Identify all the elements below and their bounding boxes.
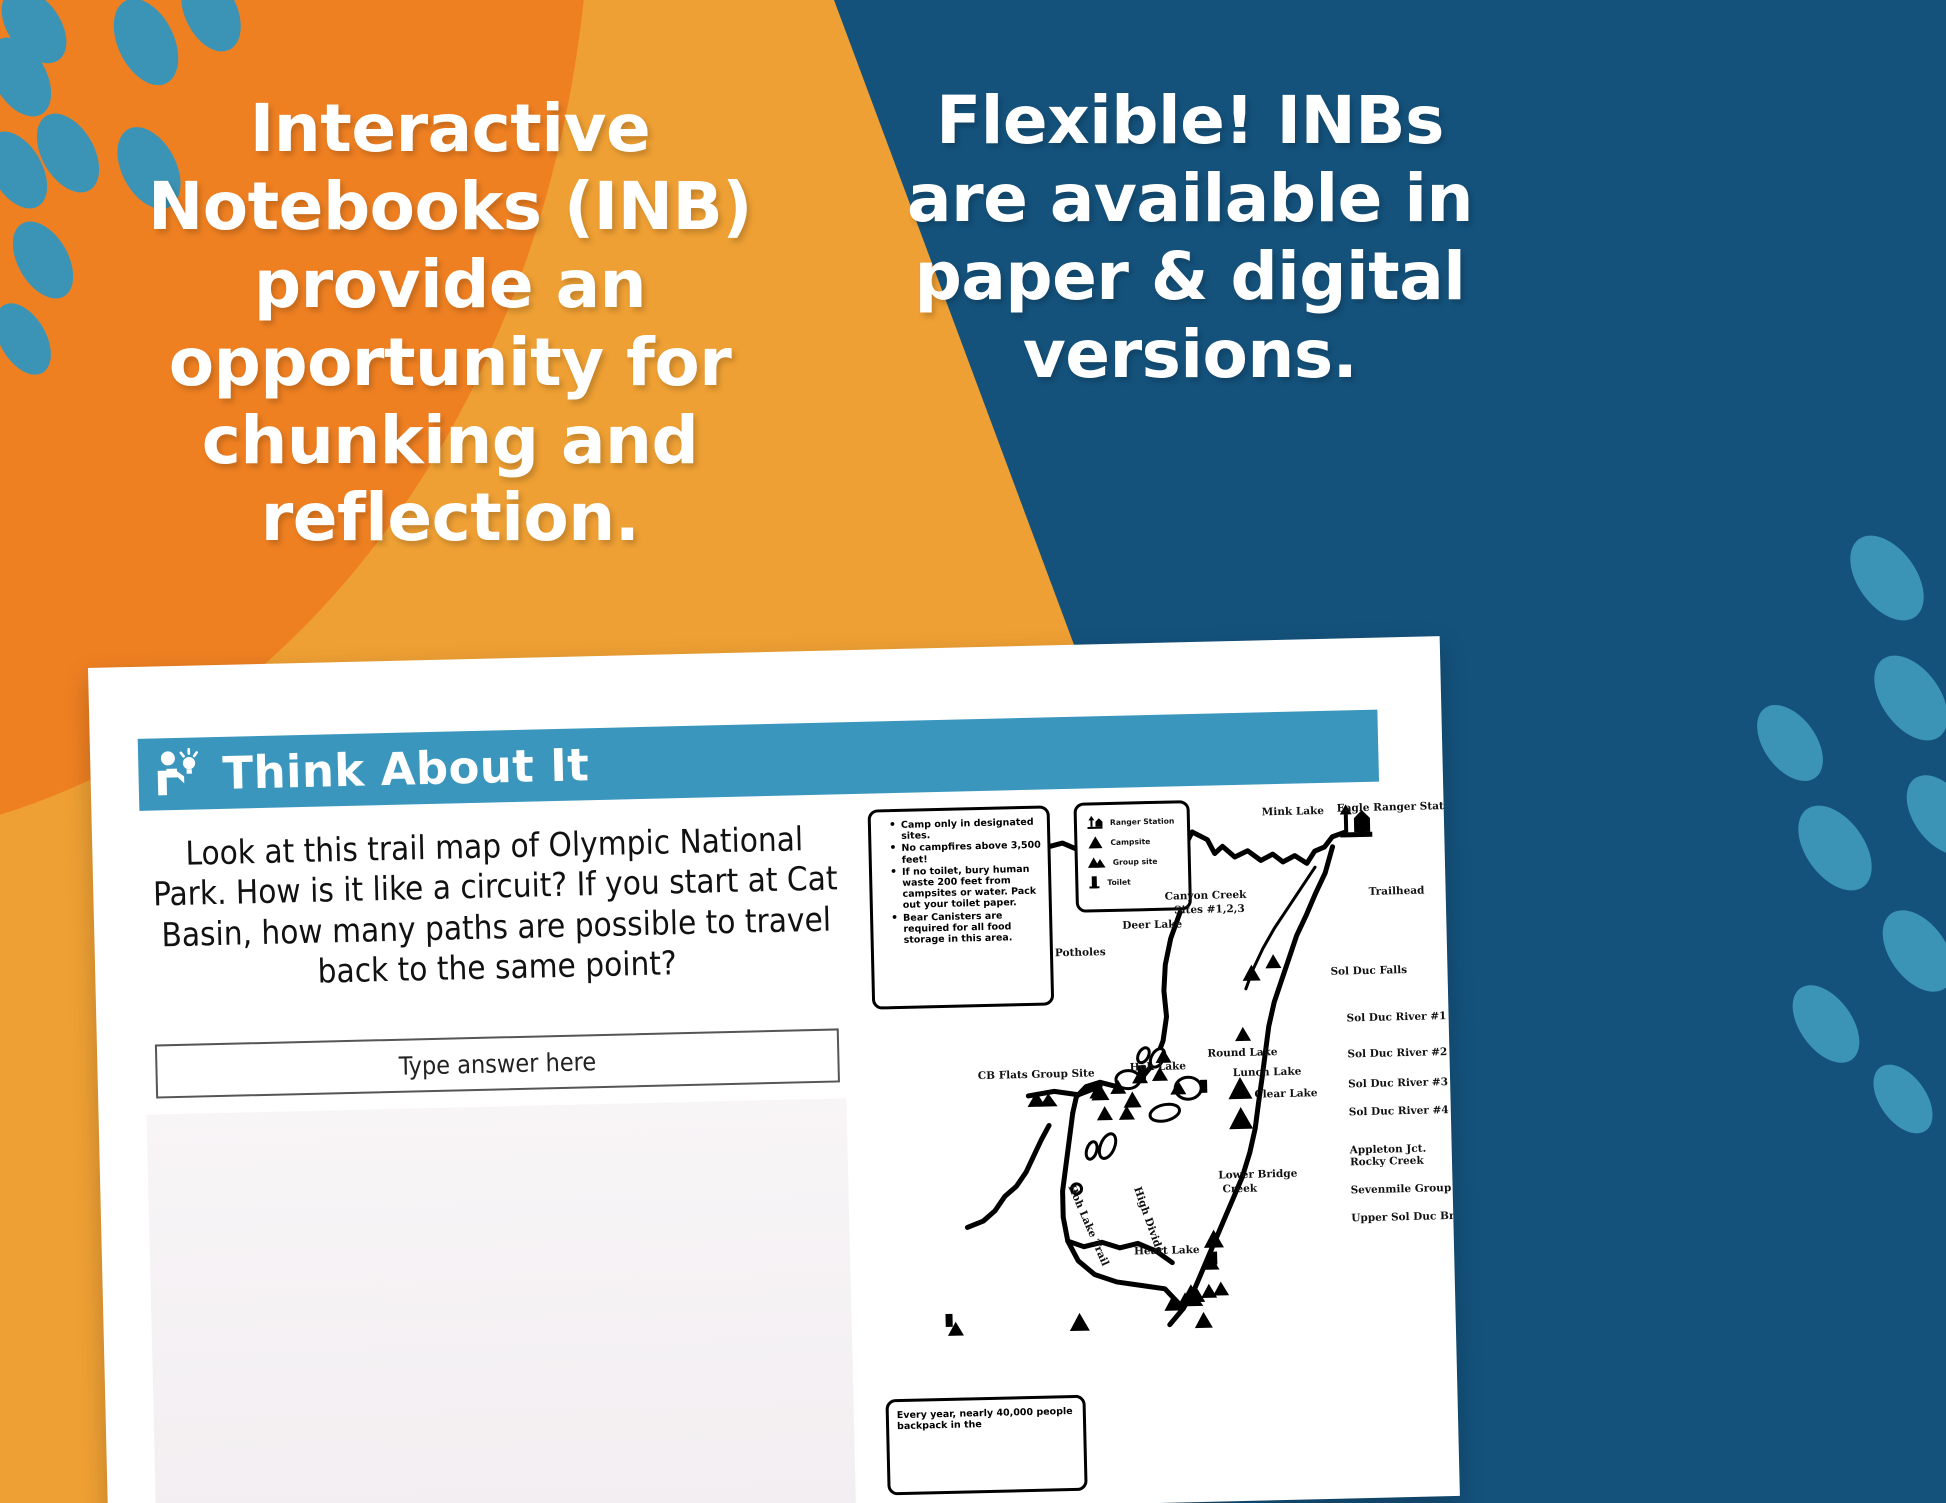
headline-right: Flexible! INBs are available in paper & … [880,82,1500,394]
map-rule-item: Camp only in designated sites. [891,817,1041,843]
map-label: Sol Duc River #2 [1347,1046,1447,1060]
legend-item-ranger-station: Ranger Station [1087,813,1181,829]
map-label: Eagle Ranger Station [1337,800,1460,815]
map-label: Hoh Lake [1130,1060,1187,1073]
person-with-lightbulb-icon [152,745,209,802]
answer-placeholder: Type answer here [398,1047,596,1081]
map-label: Lower Bridge [1218,1168,1297,1182]
map-rule-item: If no toilet, bury human waste 200 feet … [892,863,1043,911]
map-label: Canyon Creek [1165,889,1247,903]
worksheet-page: Think About It Look at this trail map of… [88,636,1460,1503]
map-rule-item: Bear Canisters are required for all food… [893,909,1044,946]
ranger-station-icon [1087,815,1103,829]
map-label: Sevenmile Group Camp [1351,1181,1460,1196]
map-label: Mink Lake [1262,805,1325,818]
map-label: Trailhead [1368,885,1424,898]
legend-label: Group site [1113,856,1158,866]
trail-map: Camp only in designated sites.No campfir… [861,787,1437,1500]
worksheet-card: Think About It Look at this trail map of… [88,636,1460,1503]
worksheet-lower-panel [147,1098,857,1503]
map-label: Heart Lake [1134,1244,1200,1258]
legend-item-campsite: Campsite [1087,833,1181,849]
map-fact-box: Every year, nearly 40,000 people backpac… [885,1395,1087,1496]
map-fact-text: Every year, nearly 40,000 people backpac… [897,1406,1075,1433]
campsite-tent-icon [1087,835,1103,849]
map-rules-list: Camp only in designated sites.No campfir… [877,817,1044,947]
map-rule-item: No campfires above 3,500 feet! [891,840,1041,866]
legend-label: Ranger Station [1110,816,1175,827]
question-prompt: Look at this trail map of Olympic Nation… [144,818,848,995]
map-label: Deer Lake [1122,918,1182,931]
legend-label: Campsite [1110,837,1150,847]
legend-item-toilet: Toilet [1088,873,1182,889]
map-label: Potholes [1055,946,1106,959]
map-label: Sol Duc Falls [1330,964,1407,978]
map-label: Rocky Creek [1350,1155,1424,1169]
map-label: Sites #1,2,3 [1174,903,1245,917]
answer-input[interactable]: Type answer here [155,1028,840,1098]
legend-label: Toilet [1107,877,1131,887]
map-rules-box: Camp only in designated sites.No campfir… [868,805,1055,1009]
map-label: Lunch Lake [1233,1066,1302,1080]
map-label: Sol Duc River #1 [1346,1010,1446,1024]
legend-item-group-site: Group site [1088,853,1182,869]
map-label: Upper Sol Duc Bridge [1351,1209,1460,1224]
map-label: Sol Duc River #3 [1348,1076,1448,1090]
map-label: Round Lake [1207,1046,1277,1060]
map-label: Sol Duc River #4 [1349,1104,1449,1118]
group-site-icon [1088,855,1106,869]
map-label: Clear Lake [1254,1087,1317,1100]
toilet-icon [1088,875,1100,889]
headline-left: Interactive Notebooks (INB) provide an o… [120,90,780,557]
banner-title: Think About It [222,738,590,800]
slide-canvas: Interactive Notebooks (INB) provide an o… [0,0,1946,1503]
map-label: Creek [1222,1183,1257,1196]
